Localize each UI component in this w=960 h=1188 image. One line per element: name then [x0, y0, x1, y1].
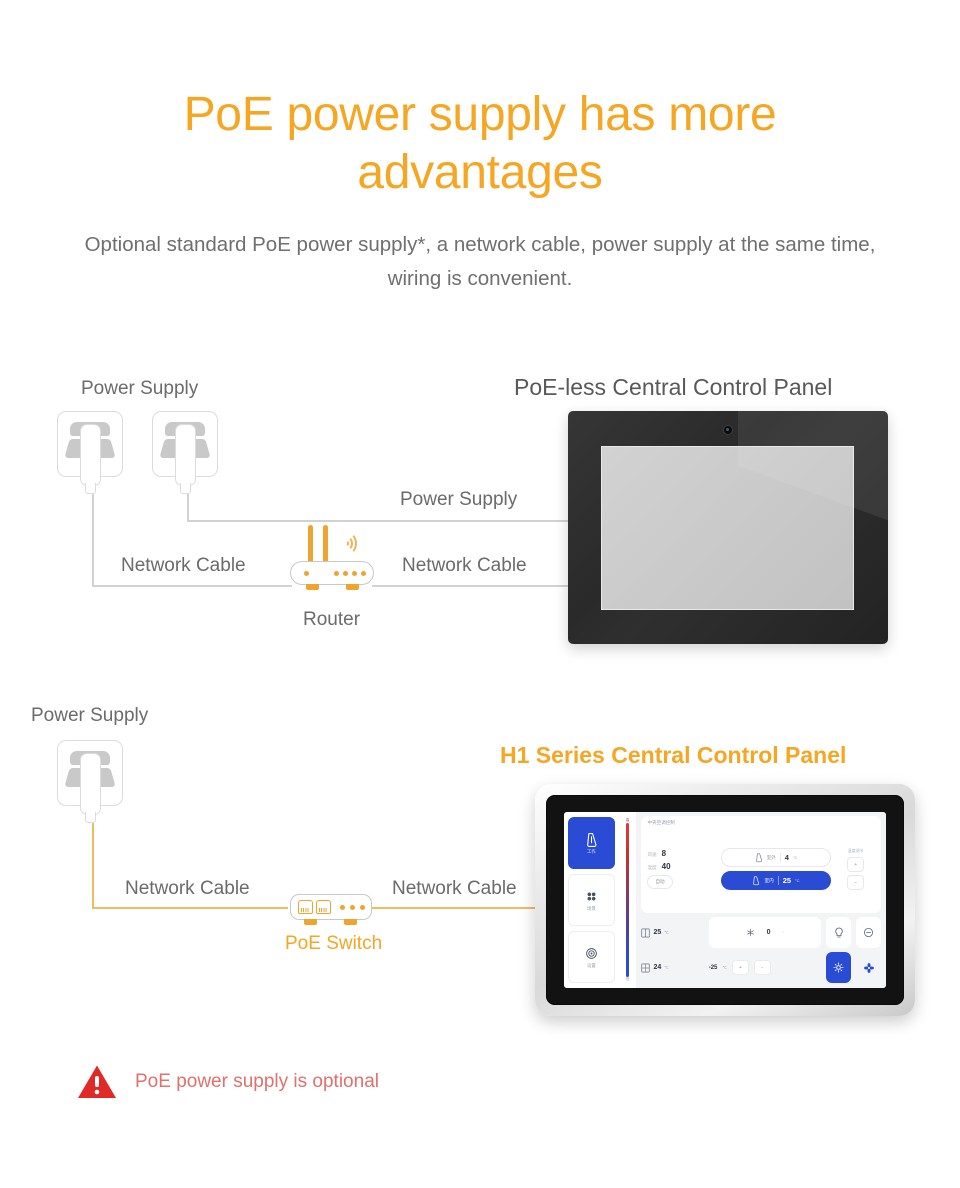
- router-foot: [346, 584, 359, 590]
- meter-reading: 24 ℃: [641, 963, 703, 973]
- page-subtitle: Optional standard PoE power supply*, a n…: [0, 228, 960, 296]
- sidebar-item-label: 工作: [587, 849, 596, 854]
- target-icon: [585, 946, 598, 961]
- h1-main-area: 中央空调控制 风速 8 湿度 40 自动: [636, 812, 886, 988]
- poe-switch-label: PoE Switch: [278, 933, 389, 955]
- router-led: [343, 571, 348, 576]
- h1-adjust-column: 温度调节 + −: [836, 848, 875, 890]
- page-title: PoE power supply has more advantages: [0, 86, 960, 202]
- h1-climate-card: 中央空调控制 风速 8 湿度 40 自动: [641, 816, 881, 913]
- meter-value: 25: [653, 929, 661, 936]
- poe-switch-foot: [344, 919, 357, 925]
- wire-network-right: [372, 585, 570, 587]
- optional-note: PoE power supply is optional: [76, 1063, 379, 1101]
- outdoor-temp-pill[interactable]: 室外 4 °C: [721, 848, 832, 867]
- fan-icon: [863, 962, 875, 974]
- bar-track[interactable]: [626, 823, 629, 977]
- h1-card-title: 中央空调控制: [647, 820, 875, 826]
- poe-switch-led: [350, 905, 355, 910]
- power-off-button[interactable]: [856, 917, 881, 948]
- poe-switch-led: [360, 905, 365, 910]
- window-icon: [641, 928, 650, 938]
- h1-screen-ui: 工作 场景 设置: [564, 812, 886, 988]
- stat-value: 40: [662, 862, 671, 871]
- meter-reading: 25 ℃: [641, 928, 703, 938]
- wire-network-vertical: [92, 494, 94, 587]
- poe-switch-foot: [304, 919, 317, 925]
- wire-network-left: [92, 585, 292, 587]
- router-led: [361, 571, 366, 576]
- router-led: [334, 571, 339, 576]
- heat-mode-button[interactable]: [826, 952, 851, 983]
- sun-icon: [833, 962, 844, 973]
- poe-switch-led: [340, 905, 345, 910]
- optional-note-text: PoE power supply is optional: [135, 1071, 379, 1093]
- stat-key: 湿度: [647, 865, 656, 871]
- meter-unit: ℃: [664, 965, 669, 970]
- sidebar-item-label: 设置: [587, 963, 596, 968]
- poe-less-tablet: [568, 411, 888, 644]
- poe-wire-vertical: [92, 823, 94, 909]
- auto-mode-label: 自动: [655, 879, 664, 885]
- h1-temperature-bar[interactable]: 高 低: [619, 812, 637, 988]
- outdoor-temp-label: 室外: [767, 855, 776, 861]
- wire-power-vertical: [187, 494, 189, 521]
- thermostat-icon: [752, 875, 760, 886]
- router-label: Router: [296, 609, 367, 631]
- bottom-row: 25 ℃ 0 °: [641, 917, 881, 948]
- stat-row: 风速 8: [647, 849, 715, 858]
- indoor-temp-value: 25: [783, 876, 791, 885]
- bottom-row: 24 ℃ -25 ℃ + −: [641, 952, 881, 983]
- hero-section: PoE power supply has more advantages Opt…: [0, 86, 960, 296]
- temp-decrease-button[interactable]: −: [847, 875, 864, 890]
- h1-panel-title: H1 Series Central Control Panel: [500, 741, 846, 769]
- top-outlet-power-label: Power Supply: [393, 489, 524, 511]
- rj45-port-icon: [298, 900, 313, 914]
- poe-wire-left: [92, 907, 288, 909]
- snowflake-icon: [746, 928, 755, 937]
- meter-unit: ℃: [664, 930, 669, 935]
- thermostat-icon: [755, 852, 763, 863]
- adjust-title: 温度调节: [848, 848, 864, 854]
- router-foot: [306, 584, 319, 590]
- plug-body: [80, 424, 101, 486]
- h1-bottom-controls: 25 ℃ 0 °: [641, 917, 881, 983]
- indoor-temp-unit: °C: [795, 878, 800, 883]
- poe-less-panel-title: PoE-less Central Control Panel: [514, 373, 832, 401]
- bottom-power-supply-label: Power Supply: [24, 705, 155, 727]
- indoor-temp-pill[interactable]: 室内 25 °C: [721, 871, 832, 890]
- h1-sidebar: 工作 场景 设置: [564, 812, 619, 988]
- camera-icon: [723, 425, 733, 435]
- bottom-network-cable-left-label: Network Cable: [118, 878, 257, 900]
- tablet-screen: [601, 446, 854, 610]
- temp-increase-button[interactable]: +: [847, 857, 864, 872]
- plug-body: [80, 753, 101, 815]
- h1-stats-column: 风速 8 湿度 40 自动: [647, 849, 715, 889]
- plug-tip: [85, 812, 96, 823]
- cooling-display[interactable]: 0 °: [709, 917, 821, 948]
- outdoor-temp-unit: °C: [793, 855, 798, 860]
- outdoor-value: -25: [709, 965, 718, 971]
- top-network-cable-right-label: Network Cable: [395, 555, 534, 577]
- window-grid-icon: [641, 963, 650, 973]
- step-down-button[interactable]: −: [754, 960, 771, 975]
- light-button[interactable]: [826, 917, 851, 948]
- plug-tip: [85, 483, 96, 494]
- sidebar-item-scene[interactable]: 场景: [568, 874, 615, 926]
- stat-row: 湿度 40: [647, 862, 715, 871]
- grid-icon: [585, 889, 598, 904]
- router-led: [352, 571, 357, 576]
- plug-body: [175, 424, 196, 486]
- plug-tip: [180, 483, 191, 494]
- meter-value: 24: [653, 964, 661, 971]
- stat-value: 8: [662, 849, 666, 858]
- outdoor-unit: ℃: [722, 965, 727, 970]
- bar-bottom-label: 低: [626, 977, 630, 982]
- rj45-port-icon: [316, 900, 331, 914]
- bulb-icon: [834, 927, 844, 939]
- outdoor-temp-value: 4: [785, 853, 789, 862]
- bottom-network-cable-right-label: Network Cable: [385, 878, 524, 900]
- indoor-temp-label: 室内: [764, 878, 773, 884]
- thermostat-icon: [585, 832, 598, 847]
- auto-mode-button[interactable]: 自动: [647, 875, 672, 889]
- wifi-signal-icon: [342, 531, 366, 555]
- top-power-supply-label: Power Supply: [74, 378, 205, 400]
- cooling-value: 0: [767, 929, 771, 936]
- step-up-button[interactable]: +: [732, 960, 749, 975]
- sidebar-item-label: 场景: [587, 906, 596, 911]
- top-network-cable-left-label: Network Cable: [114, 555, 253, 577]
- router-led: [304, 571, 309, 576]
- minus-circle-icon: [863, 927, 874, 938]
- fan-mode-button[interactable]: [856, 952, 881, 983]
- cooling-unit: °: [783, 930, 785, 935]
- stat-key: 风速: [647, 852, 656, 858]
- h1-tablet: 工作 场景 设置: [535, 784, 915, 1016]
- h1-pills-column: 室外 4 °C 室内 25: [721, 848, 832, 890]
- sidebar-item-settings[interactable]: 设置: [568, 931, 615, 983]
- outdoor-reading: -25 ℃ + −: [709, 960, 821, 975]
- wire-power-horizontal: [187, 520, 570, 522]
- sidebar-item-work[interactable]: 工作: [568, 817, 615, 869]
- warning-triangle-icon: [76, 1063, 118, 1101]
